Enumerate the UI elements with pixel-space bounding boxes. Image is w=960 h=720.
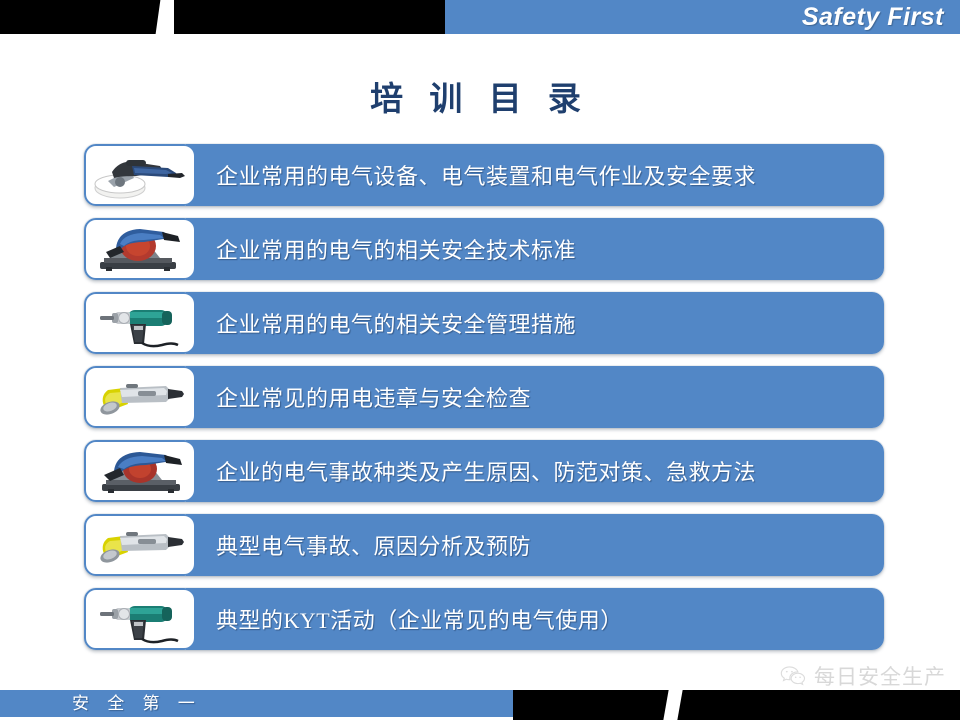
list-item[interactable]: 企业常用的电气设备、电气装置和电气作业及安全要求 — [84, 144, 884, 206]
header-black-left-block — [0, 0, 162, 34]
chop-saw-icon — [84, 218, 196, 280]
footer-bar: 安 全 第 一 — [0, 690, 960, 720]
page-title: 培 训 目 录 — [0, 72, 960, 120]
list-item-body[interactable]: 企业的电气事故种类及产生原因、防范对策、急救方法 — [186, 440, 884, 502]
header-black-right-block — [174, 0, 445, 34]
list-item-label: 典型电气事故、原因分析及预防 — [216, 529, 531, 561]
angle-grinder-icon — [84, 366, 196, 428]
list-item[interactable]: 典型的KYT活动（企业常见的电气使用） — [84, 588, 884, 650]
watermark: 每日安全生产 — [780, 661, 946, 691]
electric-drill-icon — [84, 588, 196, 650]
list-item-label: 企业的电气事故种类及产生原因、防范对策、急救方法 — [216, 455, 756, 487]
footer-slogan: 安 全 第 一 — [72, 691, 202, 717]
list-item[interactable]: 企业常用的电气的相关安全技术标准 — [84, 218, 884, 280]
list-item-body[interactable]: 企业常用的电气设备、电气装置和电气作业及安全要求 — [186, 144, 884, 206]
list-item[interactable]: 企业常用的电气的相关安全管理措施 — [84, 292, 884, 354]
list-item-label: 企业常用的电气的相关安全技术标准 — [216, 233, 576, 265]
header-bar: Safety First — [0, 0, 960, 35]
list-item-label: 企业常用的电气的相关安全管理措施 — [216, 307, 576, 339]
list-item-body[interactable]: 典型电气事故、原因分析及预防 — [186, 514, 884, 576]
list-item-body[interactable]: 企业常用的电气的相关安全技术标准 — [186, 218, 884, 280]
list-item[interactable]: 企业常见的用电违章与安全检查 — [84, 366, 884, 428]
watermark-label: 每日安全生产 — [814, 661, 946, 691]
list-item[interactable]: 企业的电气事故种类及产生原因、防范对策、急救方法 — [84, 440, 884, 502]
footer-black-block — [513, 690, 960, 720]
angle-grinder-polisher-icon — [84, 144, 196, 206]
electric-drill-icon — [84, 292, 196, 354]
header-brand-title: Safety First — [802, 2, 944, 33]
list-item-body[interactable]: 典型的KYT活动（企业常见的电气使用） — [186, 588, 884, 650]
list-item-label: 典型的KYT活动（企业常见的电气使用） — [216, 603, 623, 635]
training-contents-list: 企业常用的电气设备、电气装置和电气作业及安全要求 企业常用的电气的相关安全技术标… — [84, 144, 884, 662]
list-item-label: 企业常用的电气设备、电气装置和电气作业及安全要求 — [216, 159, 756, 191]
list-item-body[interactable]: 企业常见的用电违章与安全检查 — [186, 366, 884, 428]
wechat-icon — [780, 665, 807, 687]
list-item-body[interactable]: 企业常用的电气的相关安全管理措施 — [186, 292, 884, 354]
list-item[interactable]: 典型电气事故、原因分析及预防 — [84, 514, 884, 576]
list-item-label: 企业常见的用电违章与安全检查 — [216, 381, 531, 413]
angle-grinder-icon — [84, 514, 196, 576]
chop-saw-icon — [84, 440, 196, 502]
